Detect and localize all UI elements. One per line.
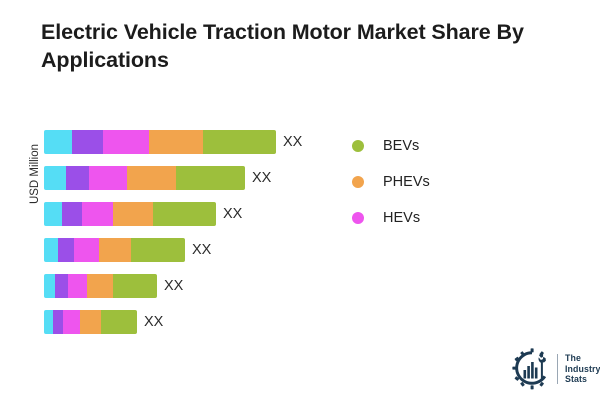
stacked-bar (44, 130, 276, 154)
bar-segment-hevs (89, 166, 127, 190)
logo-divider (557, 354, 558, 384)
bar-row: XX (44, 310, 163, 334)
legend-item-hevs[interactable]: HEVs (352, 200, 512, 236)
bar-segment-segment-2 (72, 130, 103, 154)
bar-value-label: XX (283, 130, 302, 154)
logo-line-1: The (565, 353, 600, 364)
bar-segment-hevs (74, 238, 99, 262)
bar-segment-segment-1 (44, 310, 53, 334)
bar-value-label: XX (192, 238, 211, 262)
bar-row: XX (44, 130, 302, 154)
industry-stats-gear-wrench-icon (512, 348, 554, 390)
y-axis-label: USD Million (29, 129, 41, 219)
bar-segment-phevs (127, 166, 176, 190)
bar-row: XX (44, 274, 183, 298)
bar-segment-segment-2 (55, 274, 68, 298)
bar-segment-phevs (87, 274, 113, 298)
bar-row: XX (44, 166, 271, 190)
bar-segment-phevs (99, 238, 131, 262)
bar-value-label: XX (164, 274, 183, 298)
bar-value-label: XX (252, 166, 271, 190)
legend-swatch-icon (352, 176, 364, 188)
legend-swatch-icon (352, 212, 364, 224)
stacked-bar (44, 202, 216, 226)
bar-segment-hevs (82, 202, 113, 226)
stacked-bar (44, 238, 185, 262)
logo-line-2: Industry (565, 364, 600, 375)
bar-segment-phevs (80, 310, 101, 334)
bar-segment-segment-1 (44, 274, 55, 298)
bar-segment-bevs (153, 202, 216, 226)
bar-segment-segment-2 (62, 202, 82, 226)
legend-item-phevs[interactable]: PHEVs (352, 164, 512, 200)
bar-segment-hevs (63, 310, 80, 334)
bar-segment-segment-2 (58, 238, 74, 262)
bar-segment-segment-2 (53, 310, 63, 334)
logo-line-3: Stats (565, 374, 600, 385)
brand-logo: The Industry Stats (512, 348, 600, 390)
bar-segment-hevs (103, 130, 149, 154)
legend-label: HEVs (383, 210, 420, 226)
bar-segment-segment-1 (44, 130, 72, 154)
stacked-bar (44, 310, 137, 334)
bar-value-label: XX (144, 310, 163, 334)
plot-area: XXXXXXXXXXXX (44, 130, 344, 360)
logo-wordmark: The Industry Stats (565, 353, 600, 385)
bar-row: XX (44, 202, 242, 226)
legend-item-bevs[interactable]: BEVs (352, 128, 512, 164)
stacked-bar (44, 166, 245, 190)
bar-segment-phevs (149, 130, 203, 154)
chart-legend: BEVsPHEVsHEVs (352, 128, 512, 236)
bar-segment-segment-1 (44, 238, 58, 262)
legend-label: PHEVs (383, 174, 430, 190)
bar-segment-bevs (113, 274, 157, 298)
bar-segment-segment-2 (66, 166, 89, 190)
bar-segment-segment-1 (44, 166, 66, 190)
legend-label: BEVs (383, 138, 419, 154)
bar-segment-bevs (131, 238, 185, 262)
bar-segment-segment-1 (44, 202, 62, 226)
bar-segment-hevs (68, 274, 87, 298)
bar-segment-bevs (176, 166, 245, 190)
chart-container: Electric Vehicle Traction Motor Market S… (0, 0, 600, 400)
bar-segment-phevs (113, 202, 153, 226)
bar-row: XX (44, 238, 211, 262)
bar-segment-bevs (101, 310, 137, 334)
legend-swatch-icon (352, 140, 364, 152)
bar-value-label: XX (223, 202, 242, 226)
stacked-bar (44, 274, 157, 298)
bar-segment-bevs (203, 130, 276, 154)
chart-title: Electric Vehicle Traction Motor Market S… (41, 18, 541, 74)
